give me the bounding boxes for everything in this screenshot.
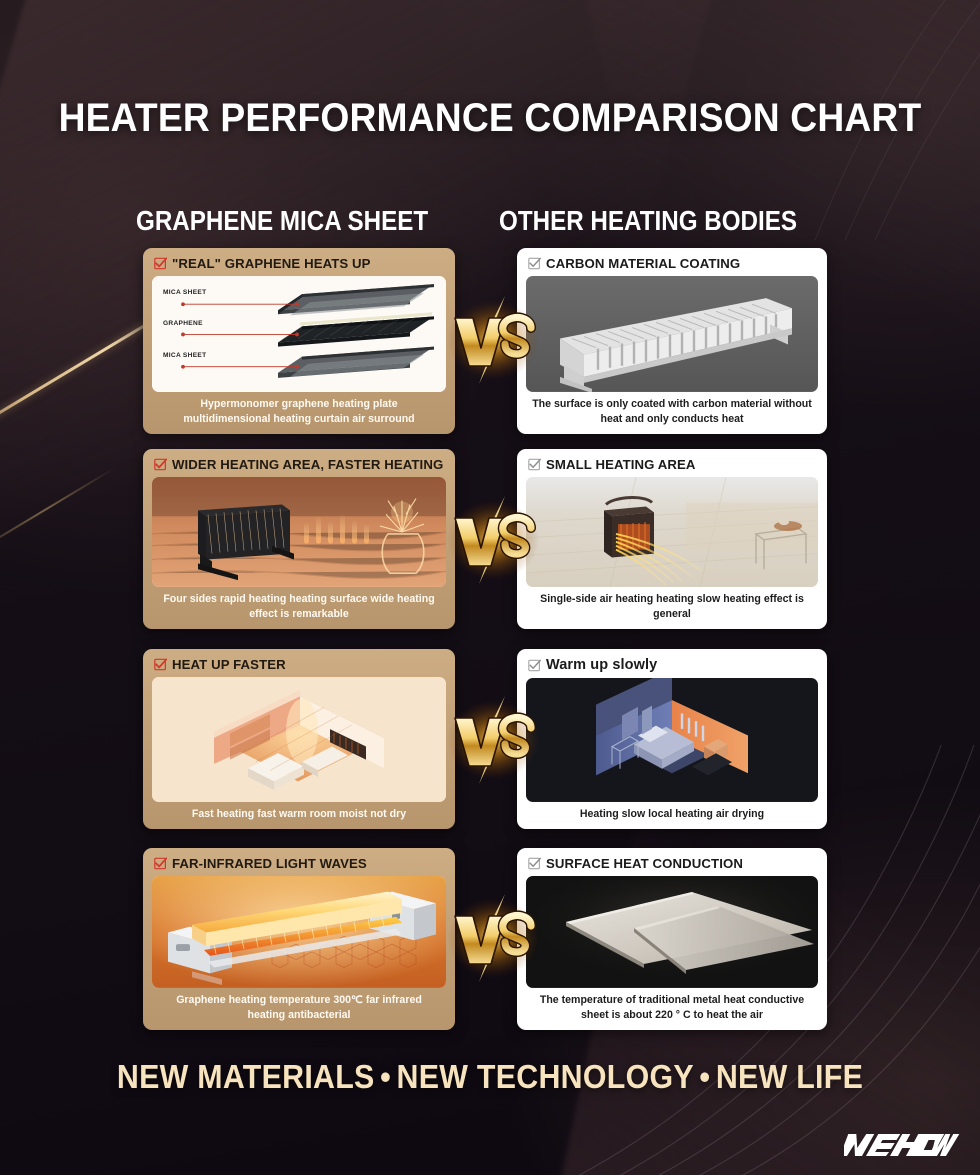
card-title-text: SURFACE HEAT CONDUCTION (546, 856, 743, 871)
checkbox-grey-icon (528, 659, 541, 672)
card-title-text: CARBON MATERIAL COATING (546, 256, 740, 271)
diagram-label-mica-top: MICA SHEET (163, 289, 206, 296)
card-media-far-infrared-tube (152, 876, 446, 988)
card-title-row: SURFACE HEAT CONDUCTION (526, 856, 818, 876)
checkbox-checked-icon (154, 257, 167, 270)
checkbox-grey-icon (528, 458, 541, 471)
card-title-row: CARBON MATERIAL COATING (526, 256, 818, 276)
card-title-row: WIDER HEATING AREA, FASTER HEATING (152, 457, 446, 477)
brand-logo-mshow (844, 1128, 962, 1162)
card-title-text: "REAL" GRAPHENE HEATS UP (172, 256, 371, 271)
diagram-label-graphene: GRAPHENE (163, 320, 203, 327)
card-title-row: FAR-INFRARED LIGHT WAVES (152, 856, 446, 876)
card-right-row-3[interactable]: Warm up slowly (517, 649, 827, 829)
footer-text-2: NEW TECHNOLOGY (397, 1058, 694, 1095)
card-media-graphene-layers: MICA SHEET GRAPHENE MICA SHEET (152, 276, 446, 392)
card-left-row-1[interactable]: "REAL" GRAPHENE HEATS UP (143, 248, 455, 434)
card-media-cold-room-isometric (526, 678, 818, 802)
footer-dot-2: • (694, 1058, 716, 1095)
diagram-label-mica-bottom: MICA SHEET (163, 352, 206, 359)
card-title-row: Warm up slowly (526, 657, 818, 678)
footer-slogan: NEW MATERIALS•NEW TECHNOLOGY•NEW LIFE (39, 1058, 941, 1096)
card-caption: The surface is only coated with carbon m… (526, 392, 818, 428)
checkbox-grey-icon (528, 857, 541, 870)
comparison-grid: "REAL" GRAPHENE HEATS UP (0, 0, 980, 1175)
card-caption: Single-side air heating heating slow hea… (526, 587, 818, 623)
checkbox-checked-icon (154, 857, 167, 870)
card-left-row-3[interactable]: HEAT UP FASTER (143, 649, 455, 829)
checkbox-checked-icon (154, 458, 167, 471)
card-caption: Heating slow local heating air drying (526, 802, 818, 823)
card-media-wide-heating-room (152, 477, 446, 587)
card-media-small-heater-room (526, 477, 818, 587)
card-title-text: WIDER HEATING AREA, FASTER HEATING (172, 457, 443, 472)
card-title-text: SMALL HEATING AREA (546, 457, 696, 472)
card-right-row-1[interactable]: CARBON MATERIAL COATING (517, 248, 827, 434)
card-caption: Hypermonomer graphene heating plate mult… (152, 392, 446, 428)
checkbox-checked-icon (154, 658, 167, 671)
footer-text-1: NEW MATERIALS (117, 1058, 375, 1095)
footer-dot-1: • (375, 1058, 397, 1095)
card-left-row-2[interactable]: WIDER HEATING AREA, FASTER HEATING (143, 449, 455, 629)
card-media-metal-sheets (526, 876, 818, 988)
checkbox-grey-icon (528, 257, 541, 270)
card-caption: Graphene heating temperature 300℃ far in… (152, 988, 446, 1024)
card-title-text: FAR-INFRARED LIGHT WAVES (172, 856, 367, 871)
card-media-carbon-coating-heater (526, 276, 818, 392)
card-right-row-4[interactable]: SURFACE HEAT CONDUCTION (517, 848, 827, 1030)
card-title-text: Warm up slowly (546, 657, 657, 673)
card-caption: Fast heating fast warm room moist not dr… (152, 802, 446, 823)
card-caption: The temperature of traditional metal hea… (526, 988, 818, 1024)
card-left-row-4[interactable]: FAR-INFRARED LIGHT WAVES (143, 848, 455, 1030)
footer-text-3: NEW LIFE (716, 1058, 863, 1095)
card-title-text: HEAT UP FASTER (172, 657, 286, 672)
card-caption: Four sides rapid heating heating surface… (152, 587, 446, 623)
card-media-warm-room-isometric (152, 677, 446, 802)
card-right-row-2[interactable]: SMALL HEATING AREA (517, 449, 827, 629)
card-title-row: SMALL HEATING AREA (526, 457, 818, 477)
card-title-row: "REAL" GRAPHENE HEATS UP (152, 256, 446, 276)
card-title-row: HEAT UP FASTER (152, 657, 446, 677)
